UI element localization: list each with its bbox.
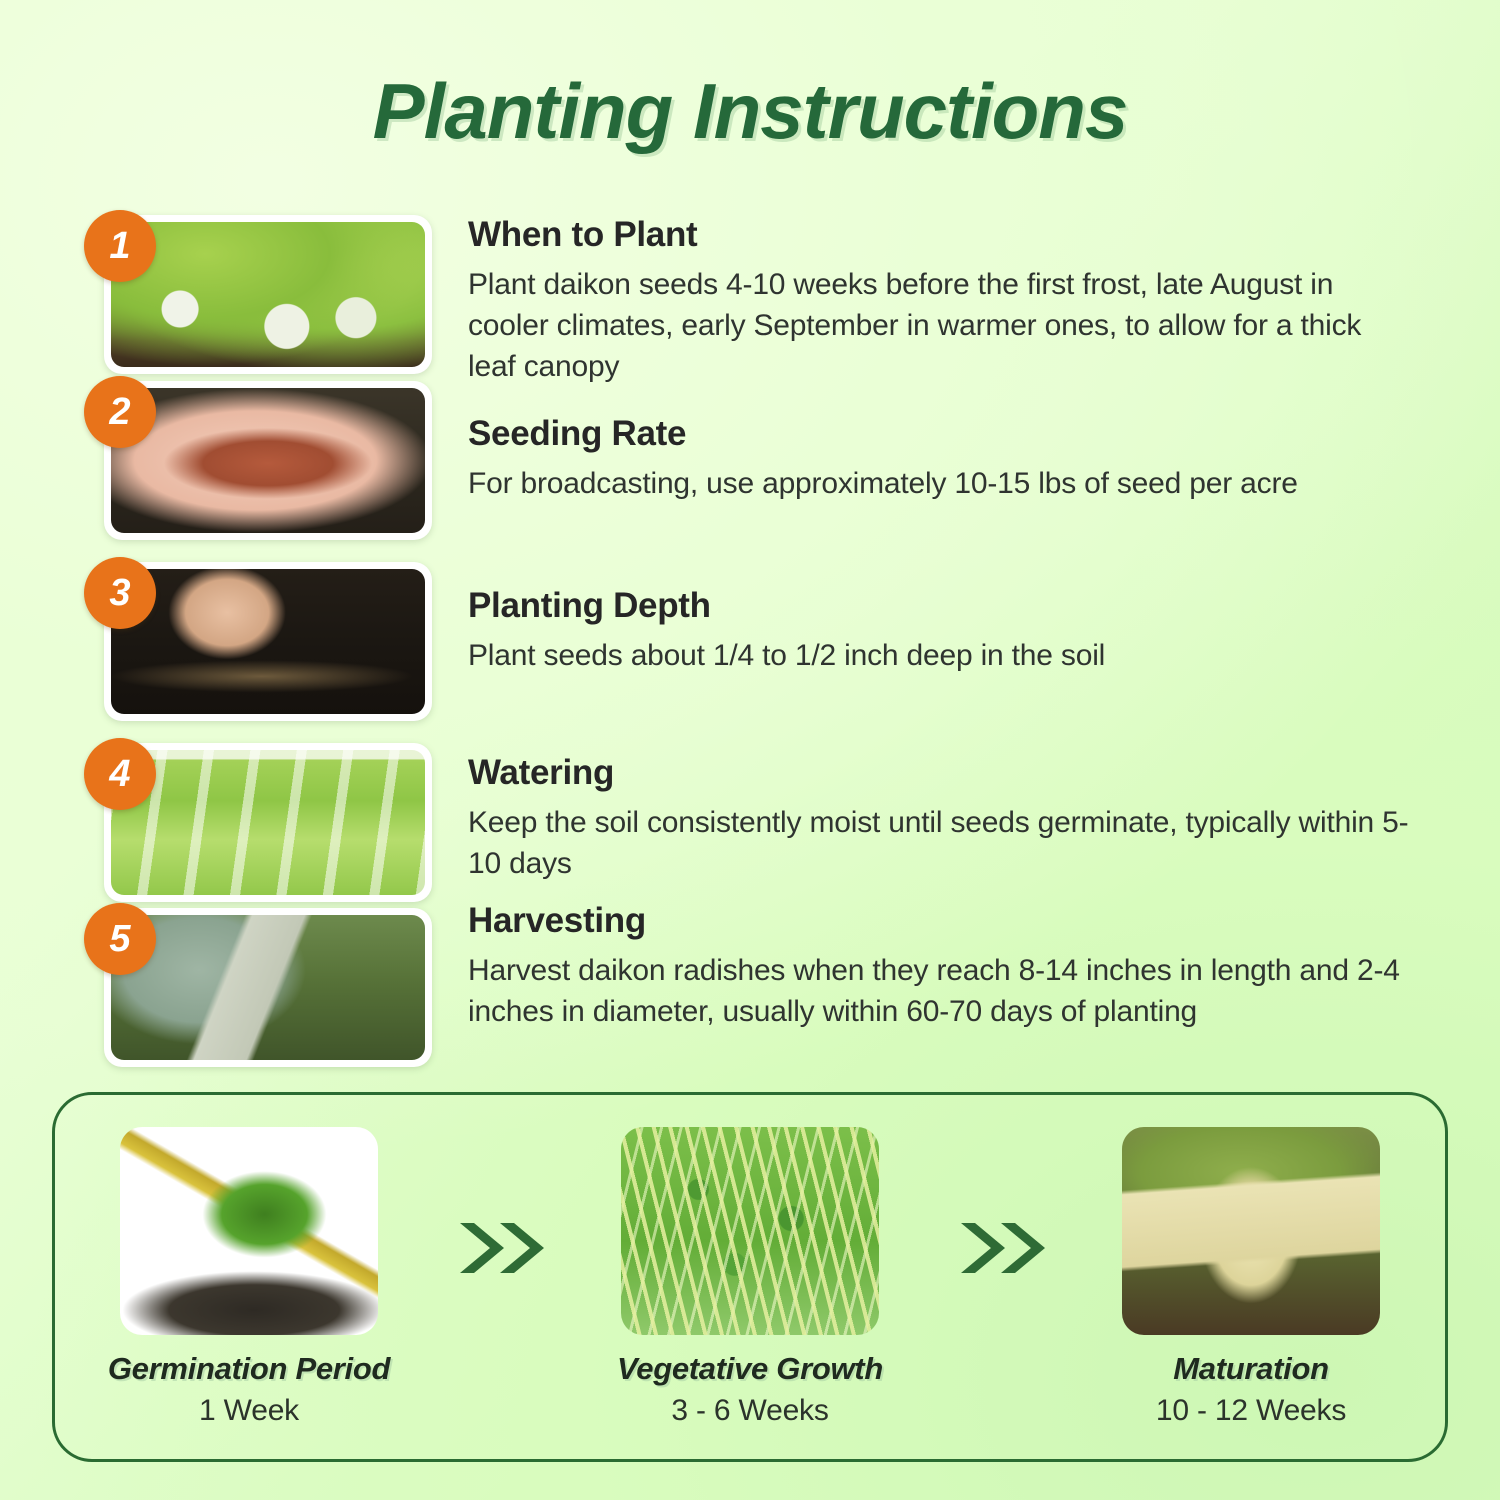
page-header: Planting Instructions [0, 0, 1500, 157]
timeline-stage: Vegetative Growth 3 - 6 Weeks [600, 1127, 900, 1428]
timeline-stage-duration: 10 - 12 Weeks [1101, 1394, 1401, 1428]
step-number-label: 1 [109, 225, 130, 268]
step-body: Keep the soil consistently moist until s… [468, 802, 1413, 884]
sprinkler-irrigation-photo [111, 750, 425, 895]
step-number-label: 5 [109, 918, 130, 961]
step-text-block: Watering Keep the soil consistently mois… [468, 753, 1413, 884]
double-chevron-right-icon [445, 1217, 555, 1279]
step-body: Plant daikon seeds 4-10 weeks before the… [468, 264, 1413, 387]
step-heading: Seeding Rate [468, 414, 1413, 454]
step-number-badge: 3 [84, 557, 156, 629]
person-harvesting-daikon-photo [111, 915, 425, 1060]
step-heading: Watering [468, 753, 1413, 793]
mature-daikon-in-ground-photo [1122, 1127, 1380, 1335]
step-heading: Harvesting [468, 901, 1413, 941]
sprouting-seed-photo [120, 1127, 378, 1335]
hand-sowing-seeds-in-soil-photo [111, 569, 425, 714]
step-heading: When to Plant [468, 215, 1413, 255]
step-body: Harvest daikon radishes when they reach … [468, 950, 1413, 1032]
step-text-block: Seeding Rate For broadcasting, use appro… [468, 414, 1413, 504]
step-number-badge: 2 [84, 376, 156, 448]
daikon-field-photo [111, 222, 425, 367]
microgreens-sprouts-photo [621, 1127, 879, 1335]
step-text-block: Planting Depth Plant seeds about 1/4 to … [468, 586, 1413, 676]
hand-holding-seeds-photo [111, 388, 425, 533]
step-body: For broadcasting, use approximately 10-1… [468, 463, 1413, 504]
timeline-stage-duration: 1 Week [99, 1394, 399, 1428]
timeline-stage-label: Maturation [1101, 1351, 1401, 1387]
step-number-label: 4 [109, 753, 130, 796]
step-heading: Planting Depth [468, 586, 1413, 626]
step-number-badge: 4 [84, 738, 156, 810]
page-title: Planting Instructions [0, 66, 1500, 157]
timeline-stage-label: Germination Period [99, 1351, 399, 1387]
step-number-label: 3 [109, 572, 130, 615]
double-chevron-right-icon [946, 1217, 1056, 1279]
step-body: Plant seeds about 1/4 to 1/2 inch deep i… [468, 635, 1413, 676]
step-number-badge: 5 [84, 903, 156, 975]
timeline-stage: Germination Period 1 Week [99, 1127, 399, 1428]
step-text-block: When to Plant Plant daikon seeds 4-10 we… [468, 215, 1413, 387]
growth-timeline-panel: Germination Period 1 Week Vegetative Gro… [52, 1092, 1448, 1462]
step-text-block: Harvesting Harvest daikon radishes when … [468, 901, 1413, 1032]
step-number-badge: 1 [84, 210, 156, 282]
step-number-label: 2 [109, 391, 130, 434]
timeline-stage-duration: 3 - 6 Weeks [600, 1394, 900, 1428]
timeline-stage: Maturation 10 - 12 Weeks [1101, 1127, 1401, 1428]
timeline-stage-label: Vegetative Growth [600, 1351, 900, 1387]
